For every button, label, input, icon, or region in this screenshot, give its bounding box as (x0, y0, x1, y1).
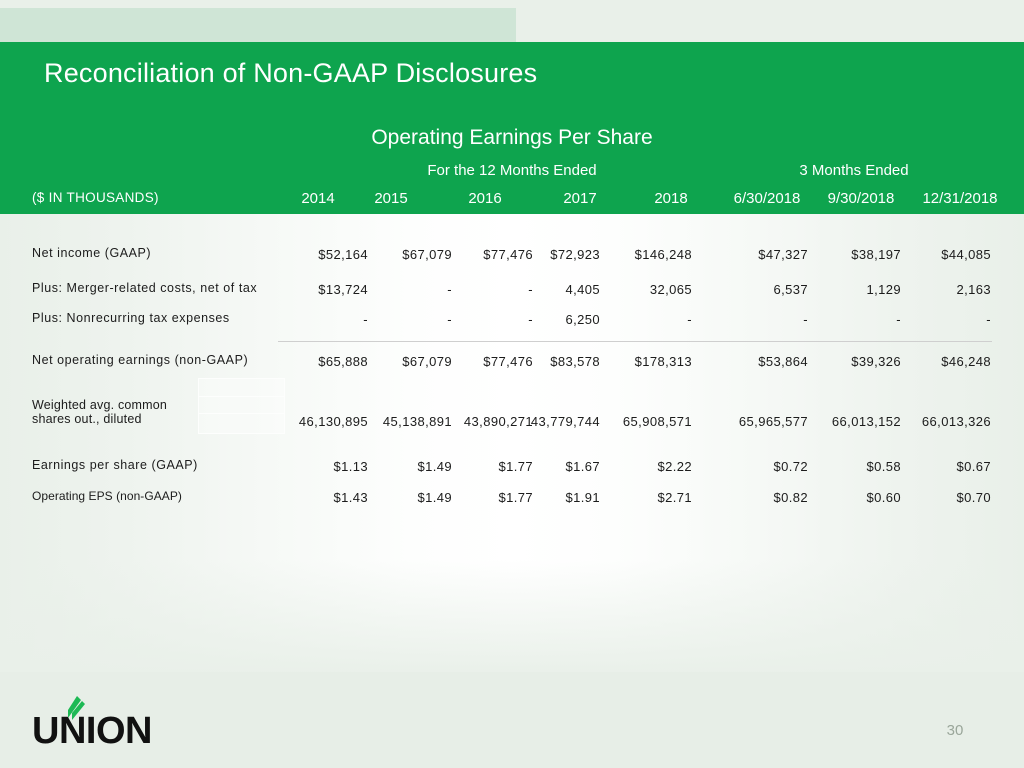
table-cell: $1.67 (504, 459, 600, 474)
union-logo: UNION (32, 700, 192, 750)
table-cell: $72,923 (504, 247, 600, 262)
table-cell: $2.71 (596, 490, 692, 505)
table-cell: $13,724 (272, 282, 368, 297)
row-label-operating-eps-non-gaap: Operating EPS (non-GAAP) (32, 489, 182, 503)
table-cell: - (895, 312, 991, 327)
table-cell: 65,908,571 (596, 414, 692, 429)
table-cell: $53,864 (712, 354, 808, 369)
row-label-net-operating-earnings-non-gaap: Net operating earnings (non-GAAP) (32, 353, 248, 367)
table-cell: $38,197 (805, 247, 901, 262)
row-label-plus-merger-related-costs-net-of-tax: Plus: Merger-related costs, net of tax (32, 281, 257, 295)
column-header-2018: 2018 (621, 190, 721, 207)
row-label-plus-nonrecurring-tax-expenses: Plus: Nonrecurring tax expenses (32, 311, 230, 325)
table-cell: $178,313 (596, 354, 692, 369)
page-title: Reconciliation of Non-GAAP Disclosures (44, 58, 537, 89)
table-cell: 2,163 (895, 282, 991, 297)
table-cell: $1.13 (272, 459, 368, 474)
column-header-2016: 2016 (435, 190, 535, 207)
table-cell: 66,013,152 (805, 414, 901, 429)
table-cell: $146,248 (596, 247, 692, 262)
slide-canvas: Reconciliation of Non-GAAP Disclosures O… (0, 0, 1024, 768)
table-cell: $65,888 (272, 354, 368, 369)
column-header-6-30-2018: 6/30/2018 (717, 190, 817, 207)
table-cell: 65,965,577 (712, 414, 808, 429)
table-title: Operating Earnings Per Share (0, 126, 1024, 150)
table-cell: $44,085 (895, 247, 991, 262)
table-cell: 4,405 (504, 282, 600, 297)
table-cell: $0.70 (895, 490, 991, 505)
union-wordmark: UNION (32, 712, 152, 750)
table-cell: $52,164 (272, 247, 368, 262)
table-cell: 46,130,895 (272, 414, 368, 429)
table-cell: $46,248 (895, 354, 991, 369)
table-cell: 43,779,744 (504, 414, 600, 429)
table-cell: $83,578 (504, 354, 600, 369)
row-label-weighted-avg-shares: Weighted avg. commonshares out., diluted (32, 398, 212, 426)
table-cell: $0.72 (712, 459, 808, 474)
ghost-line-2 (199, 413, 284, 414)
table-cell: 1,129 (805, 282, 901, 297)
table-cell: - (272, 312, 368, 327)
table-cell: 6,250 (504, 312, 600, 327)
table-cell: $47,327 (712, 247, 808, 262)
table-cell: $2.22 (596, 459, 692, 474)
table-cell: 6,537 (712, 282, 808, 297)
table-cell: 66,013,326 (895, 414, 991, 429)
background-glow-fade (0, 560, 1024, 675)
column-header-9-30-2018: 9/30/2018 (811, 190, 911, 207)
table-cell: $0.82 (712, 490, 808, 505)
ghost-textbox-artifact (198, 378, 285, 434)
table-cell: $0.60 (805, 490, 901, 505)
table-cell: $0.67 (895, 459, 991, 474)
table-cell: $0.58 (805, 459, 901, 474)
table-cell: - (712, 312, 808, 327)
top-accent-band (0, 8, 516, 42)
group-header-3-months: 3 Months Ended (712, 162, 996, 179)
units-label: ($ IN THOUSANDS) (32, 190, 159, 205)
table-cell: 32,065 (596, 282, 692, 297)
column-header-2017: 2017 (530, 190, 630, 207)
page-number: 30 (920, 722, 990, 739)
table-cell: $39,326 (805, 354, 901, 369)
subtotal-rule (278, 341, 992, 342)
column-header-2015: 2015 (341, 190, 441, 207)
row-label-earnings-per-share-gaap: Earnings per share (GAAP) (32, 458, 198, 472)
table-cell: $1.43 (272, 490, 368, 505)
row-label-net-income-gaap: Net income (GAAP) (32, 246, 151, 260)
group-header-12-months: For the 12 Months Ended (290, 162, 734, 179)
table-cell: - (596, 312, 692, 327)
column-header-12-31-2018: 12/31/2018 (910, 190, 1010, 207)
ghost-line-1 (199, 396, 284, 397)
table-cell: - (805, 312, 901, 327)
table-cell: $1.91 (504, 490, 600, 505)
